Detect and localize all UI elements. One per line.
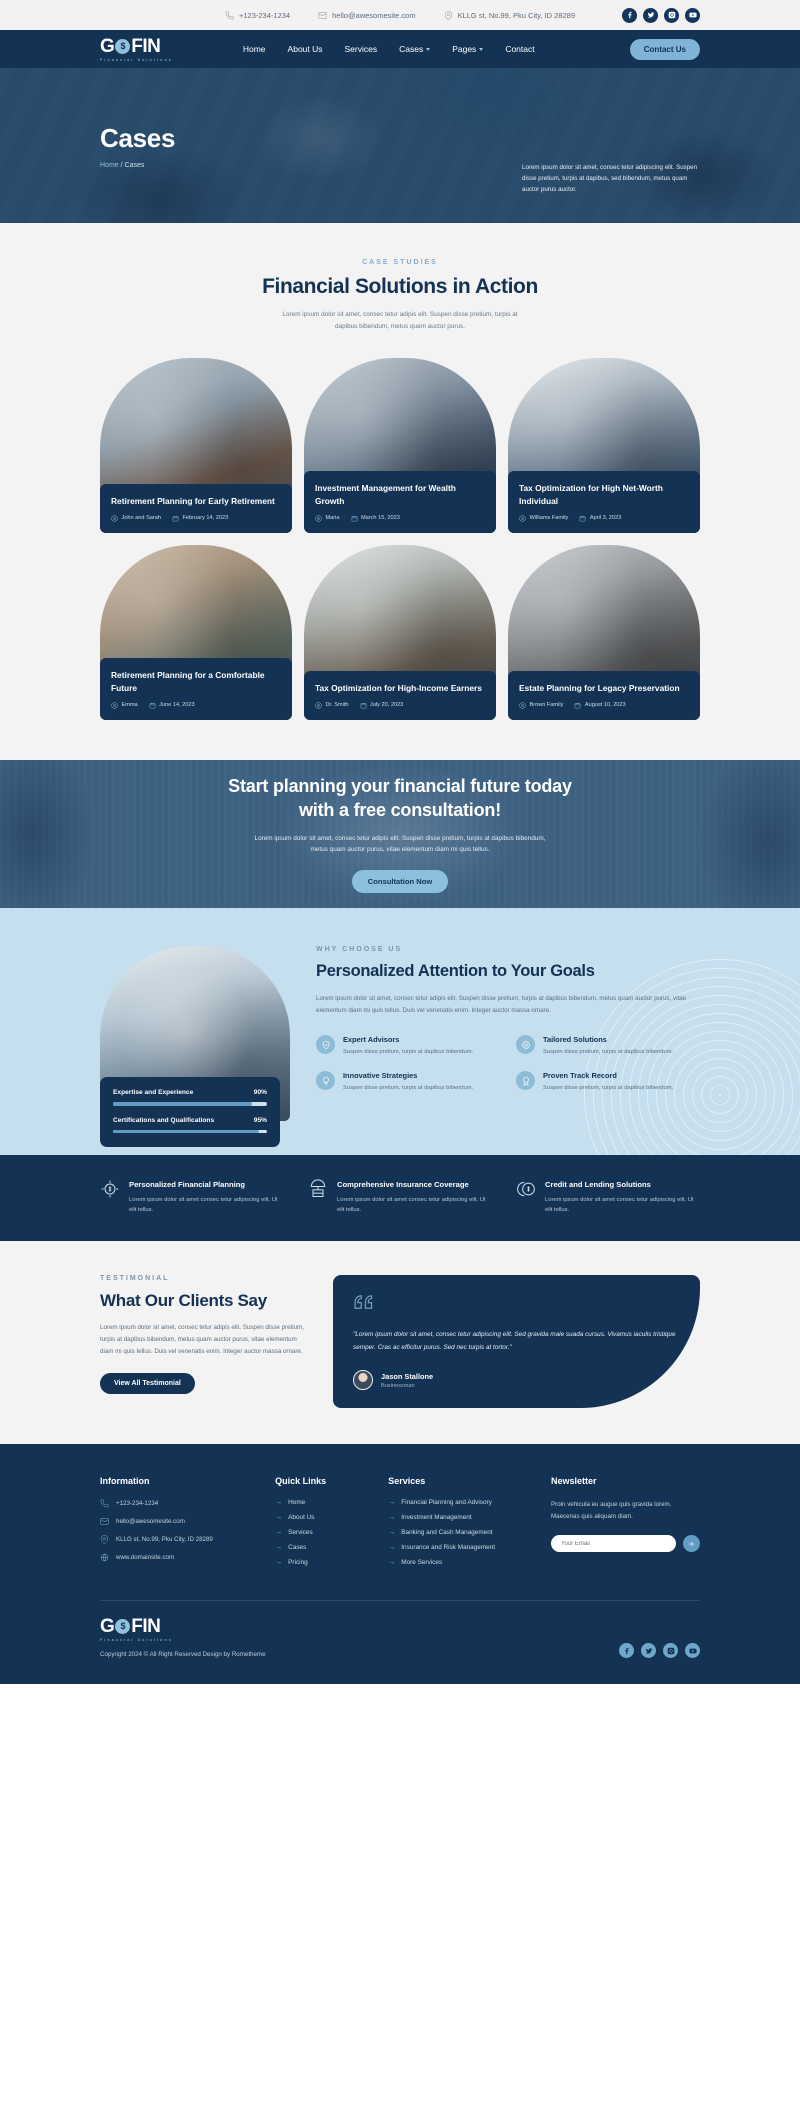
- feature-title: Expert Advisors: [343, 1035, 473, 1044]
- case-card[interactable]: Retirement Planning for a Comfortable Fu…: [100, 545, 292, 720]
- strip-desc: Lorem ipsum dolor sit amet consec tetur …: [545, 1196, 700, 1216]
- quote-icon: [353, 1293, 678, 1316]
- contact-us-button[interactable]: Contact Us: [630, 39, 700, 60]
- section-title: What Our Clients Say: [100, 1291, 305, 1311]
- case-title: Investment Management for Wealth Growth: [315, 482, 485, 506]
- stat-value: 95%: [254, 1117, 267, 1124]
- logo-dollar-icon: $: [115, 39, 130, 54]
- stat-value: 90%: [254, 1089, 267, 1096]
- testimonial-author-name: Jason Stallone: [381, 1372, 433, 1381]
- consultation-now-button[interactable]: Consultation Now: [352, 870, 449, 893]
- case-date: June 14, 2023: [149, 702, 195, 709]
- case-title: Tax Optimization for High Net-Worth Indi…: [519, 482, 689, 506]
- arrow-right-icon: →: [388, 1544, 395, 1551]
- calendar-icon: [579, 515, 586, 522]
- case-date: March 15, 2023: [351, 515, 400, 522]
- testimonial-card: "Lorem ipsum dolor sit amet, consec tetu…: [333, 1275, 700, 1408]
- youtube-icon[interactable]: [685, 1643, 700, 1658]
- footer-phone-text: +123-234-1234: [116, 1500, 158, 1507]
- footer-service-label: Banking and Cash Management: [401, 1529, 492, 1536]
- mail-icon: [100, 1517, 109, 1526]
- case-card[interactable]: Investment Management for Wealth Growth …: [304, 358, 496, 533]
- case-body: Retirement Planning for a Comfortable Fu…: [100, 658, 292, 719]
- footer-link-home[interactable]: →Home: [275, 1499, 368, 1506]
- case-meta: Williams Family April 3, 2023: [519, 515, 689, 522]
- footer-link-about-us[interactable]: →About Us: [275, 1514, 368, 1521]
- calendar-icon: [360, 702, 367, 709]
- section-eyebrow: TESTIMONIAL: [100, 1275, 305, 1282]
- footer-heading: Information: [100, 1476, 255, 1486]
- case-date: July 20, 2023: [360, 702, 404, 709]
- footer-email-text: hello@awesomesite.com: [116, 1518, 185, 1525]
- case-date: February 14, 2023: [172, 515, 228, 522]
- feature-item: Innovative Strategies Suspen disse preti…: [316, 1071, 500, 1093]
- hero-banner: Cases Home / Cases Lorem ipsum dolor sit…: [0, 68, 800, 223]
- section-eyebrow: WHY CHOOSE US: [316, 946, 700, 953]
- facebook-icon[interactable]: [622, 8, 637, 23]
- page-title: Cases: [100, 123, 175, 154]
- chevron-down-icon: [426, 48, 430, 51]
- case-date: April 3, 2023: [579, 515, 621, 522]
- section-title: Financial Solutions in Action: [100, 275, 700, 299]
- feature-title: Innovative Strategies: [343, 1071, 473, 1080]
- logo-letter-g: G: [100, 1617, 114, 1636]
- calendar-icon: [574, 702, 581, 709]
- case-body: Estate Planning for Legacy Preservation …: [508, 671, 700, 720]
- chevron-down-icon: [479, 48, 483, 51]
- feature-desc: Suspen disse pretium, turpis at dapibus …: [543, 1083, 673, 1093]
- cta-banner: Start planning your financial future tod…: [0, 760, 800, 908]
- strip-title: Personalized Financial Planning: [129, 1179, 284, 1190]
- umbrella-shield-icon: [308, 1179, 328, 1216]
- breadcrumb: Home / Cases: [100, 162, 175, 169]
- case-date-text: March 15, 2023: [361, 515, 400, 521]
- logo-dollar-icon: $: [115, 1619, 130, 1634]
- footer-link-label: Home: [288, 1499, 305, 1506]
- award-icon: [516, 1071, 535, 1090]
- footer-service-label: Investment Management: [401, 1514, 471, 1521]
- stats-card: Expertise and Experience 90% Certificati…: [100, 1077, 280, 1146]
- footer-link-label: Cases: [288, 1544, 306, 1551]
- page-root: +123-234-1234 hello@awesomesite.com KLLG…: [0, 0, 800, 1684]
- arrow-right-icon: →: [388, 1514, 395, 1521]
- case-client: John and Sarah: [111, 515, 161, 522]
- case-date: August 10, 2023: [574, 702, 625, 709]
- testimonial-intro: TESTIMONIAL What Our Clients Say Lorem i…: [100, 1275, 305, 1408]
- lightbulb-icon: [316, 1071, 335, 1090]
- stat-item: Certifications and Qualifications 95%: [113, 1117, 267, 1133]
- site-logo[interactable]: G $ FIN Financial Solutions: [100, 37, 173, 62]
- instagram-icon[interactable]: [663, 1643, 678, 1658]
- case-studies-section: CASE STUDIES Financial Solutions in Acti…: [0, 223, 800, 760]
- nav-label: Pages: [452, 44, 476, 54]
- case-date-text: April 3, 2023: [590, 515, 621, 521]
- newsletter-submit-button[interactable]: [683, 1535, 700, 1552]
- cta-title-line1: Start planning your financial future tod…: [228, 776, 572, 796]
- case-client: Brown Family: [519, 702, 563, 709]
- topbar-address-text: KLLG st, No.99, Pku City, ID 28289: [458, 11, 575, 20]
- feature-item: Proven Track Record Suspen disse pretium…: [516, 1071, 700, 1093]
- case-client-text: Emma: [122, 702, 138, 708]
- view-all-testimonial-button[interactable]: View All Testimonial: [100, 1373, 195, 1394]
- logo-letters-fin: FIN: [131, 1617, 160, 1636]
- nav-item-about-us[interactable]: About Us: [288, 44, 323, 54]
- footer-brand: G $ FIN Financial Solutions Copyright 20…: [100, 1617, 266, 1658]
- feature-desc: Suspen disse pretium, turpis at dapibus …: [343, 1047, 473, 1057]
- section-text: Lorem ipsum dolor sit amet, consec tetur…: [100, 1322, 305, 1357]
- calendar-icon: [172, 515, 179, 522]
- hero-content: Cases Home / Cases: [100, 123, 175, 169]
- section-eyebrow: CASE STUDIES: [100, 259, 700, 266]
- case-body: Investment Management for Wealth Growth …: [304, 471, 496, 532]
- footer-link-label: About Us: [288, 1514, 314, 1521]
- footer-service-investment-management[interactable]: →Investment Management: [388, 1514, 531, 1521]
- feature-item: Expert Advisors Suspen disse pretium, tu…: [316, 1035, 500, 1057]
- breadcrumb-current: Cases: [125, 162, 145, 169]
- case-client-text: John and Sarah: [122, 515, 162, 521]
- target-icon: [516, 1035, 535, 1054]
- arrow-right-icon: [687, 1540, 695, 1548]
- footer-service-insurance-risk[interactable]: →Insurance and Risk Management: [388, 1544, 531, 1551]
- pin-icon: [444, 11, 453, 20]
- strip-title: Credit and Lending Solutions: [545, 1179, 700, 1190]
- why-choose-us-section: Expertise and Experience 90% Certificati…: [0, 908, 800, 1155]
- breadcrumb-home[interactable]: Home: [100, 162, 119, 169]
- footer-logo[interactable]: G $ FIN Financial Solutions: [100, 1617, 266, 1642]
- nav-label: About Us: [288, 44, 323, 54]
- testimonial-quote: "Lorem ipsum dolor sit amet, consec tetu…: [353, 1329, 678, 1354]
- case-client-text: Brown Family: [530, 702, 564, 708]
- nav-item-cases[interactable]: Cases: [399, 44, 430, 54]
- newsletter-form: [551, 1535, 700, 1552]
- case-meta: Dr. Smith July 20, 2023: [315, 702, 485, 709]
- newsletter-text: Proin vehicula eu augue quis gravida lor…: [551, 1499, 700, 1522]
- logo-letter-g: G: [100, 37, 114, 56]
- services-strip: Personalized Financial Planning Lorem ip…: [0, 1155, 800, 1242]
- footer-link-cases[interactable]: →Cases: [275, 1544, 368, 1551]
- case-meta: Maria March 15, 2023: [315, 515, 485, 522]
- progress-bar: [113, 1102, 267, 1105]
- footer-quick-links: Quick Links →Home →About Us →Services →C…: [275, 1476, 368, 1574]
- cta-text: Lorem ipsum dolor sit amet, consec tetur…: [245, 833, 555, 857]
- case-date-text: February 14, 2023: [183, 515, 229, 521]
- feature-desc: Suspen disse pretium, turpis at dapibus …: [543, 1047, 673, 1057]
- footer-address-text: KLLG st, No.99, Pku City, ID 28289: [116, 1536, 213, 1543]
- section-subtitle: Lorem ipsum dolor sit amet, consec tetur…: [273, 309, 528, 333]
- topbar-address[interactable]: KLLG st, No.99, Pku City, ID 28289: [444, 11, 575, 20]
- cta-content: Start planning your financial future tod…: [228, 774, 572, 893]
- user-icon: [111, 515, 118, 522]
- case-body: Retirement Planning for Early Retirement…: [100, 484, 292, 533]
- topbar-email[interactable]: hello@awesomesite.com: [318, 11, 415, 20]
- progress-bar: [113, 1130, 267, 1133]
- footer-services: Services →Financial Planning and Advisor…: [388, 1476, 531, 1574]
- nav-item-pages[interactable]: Pages: [452, 44, 483, 54]
- case-card[interactable]: Retirement Planning for Early Retirement…: [100, 358, 292, 533]
- topbar-phone[interactable]: +123-234-1234: [225, 11, 290, 20]
- stat-label: Certifications and Qualifications: [113, 1117, 214, 1124]
- case-body: Tax Optimization for High-Income Earners…: [304, 671, 496, 720]
- strip-title: Comprehensive Insurance Coverage: [337, 1179, 492, 1190]
- case-client-text: Williams Family: [530, 515, 569, 521]
- strip-desc: Lorem ipsum dolor sit amet consec tetur …: [337, 1196, 492, 1216]
- footer-link-pricing[interactable]: →Pricing: [275, 1559, 368, 1566]
- nav-label: Cases: [399, 44, 423, 54]
- feature-grid: Expert Advisors Suspen disse pretium, tu…: [316, 1035, 700, 1093]
- footer-email[interactable]: hello@awesomesite.com: [100, 1517, 255, 1526]
- calendar-icon: [149, 702, 156, 709]
- case-meta: Brown Family August 10, 2023: [519, 702, 689, 709]
- avatar: [353, 1370, 373, 1390]
- case-date-text: August 10, 2023: [585, 702, 626, 708]
- feature-title: Proven Track Record: [543, 1071, 673, 1080]
- arrow-right-icon: →: [275, 1514, 282, 1521]
- nav-item-contact[interactable]: Contact: [505, 44, 534, 54]
- logo-wordmark: G $ FIN: [100, 37, 173, 56]
- twitter-icon[interactable]: [641, 1643, 656, 1658]
- arrow-right-icon: →: [275, 1529, 282, 1536]
- case-date-text: July 20, 2023: [370, 702, 403, 708]
- arrow-right-icon: →: [275, 1544, 282, 1551]
- footer-heading: Newsletter: [551, 1476, 700, 1486]
- why-content: WHY CHOOSE US Personalized Attention to …: [316, 946, 700, 1121]
- nav-menu: Home About Us Services Cases Pages Conta…: [243, 44, 535, 54]
- footer-bottom: G $ FIN Financial Solutions Copyright 20…: [100, 1617, 700, 1684]
- footer-website[interactable]: www.domainsite.com: [100, 1553, 255, 1562]
- footer-service-banking-cash[interactable]: →Banking and Cash Management: [388, 1529, 531, 1536]
- arrow-right-icon: →: [388, 1559, 395, 1566]
- logo-letters-fin: FIN: [131, 37, 160, 56]
- strip-item: Comprehensive Insurance Coverage Lorem i…: [308, 1179, 492, 1216]
- credit-coins-icon: [516, 1179, 536, 1216]
- case-title: Retirement Planning for Early Retirement: [111, 495, 281, 507]
- youtube-icon[interactable]: [685, 8, 700, 23]
- cta-title-line2: with a free consultation!: [299, 800, 501, 820]
- user-icon: [519, 515, 526, 522]
- instagram-icon[interactable]: [664, 8, 679, 23]
- footer-link-label: Pricing: [288, 1559, 308, 1566]
- copyright-text: Copyright 2024 © All Right Reserved Desi…: [100, 1651, 266, 1658]
- footer-service-label: More Services: [401, 1559, 442, 1566]
- top-bar: +123-234-1234 hello@awesomesite.com KLLG…: [0, 0, 800, 30]
- testimonial-section: TESTIMONIAL What Our Clients Say Lorem i…: [0, 1241, 800, 1444]
- cta-title: Start planning your financial future tod…: [228, 774, 572, 823]
- footer-newsletter: Newsletter Proin vehicula eu augue quis …: [551, 1476, 700, 1574]
- case-client: Williams Family: [519, 515, 568, 522]
- case-meta: Emma June 14, 2023: [111, 702, 281, 709]
- globe-icon: [100, 1553, 109, 1562]
- stat-label: Expertise and Experience: [113, 1089, 193, 1096]
- footer-heading: Services: [388, 1476, 531, 1486]
- badge-icon: [316, 1035, 335, 1054]
- case-client: Dr. Smith: [315, 702, 349, 709]
- case-client-text: Maria: [326, 515, 340, 521]
- why-visual: Expertise and Experience 90% Certificati…: [100, 946, 290, 1121]
- coin-target-icon: [100, 1179, 120, 1216]
- feature-desc: Suspen disse pretium, turpis at dapibus …: [343, 1083, 473, 1093]
- user-icon: [315, 702, 322, 709]
- main-navigation: G $ FIN Financial Solutions Home About U…: [0, 30, 800, 68]
- footer-service-financial-planning[interactable]: →Financial Planning and Advisory: [388, 1499, 531, 1506]
- mail-icon: [318, 11, 327, 20]
- stat-item: Expertise and Experience 90%: [113, 1089, 267, 1105]
- topbar-phone-text: +123-234-1234: [239, 11, 290, 20]
- strip-item: Credit and Lending Solutions Lorem ipsum…: [516, 1179, 700, 1216]
- twitter-icon[interactable]: [643, 8, 658, 23]
- footer-link-label: Services: [288, 1529, 313, 1536]
- case-title: Tax Optimization for High-Income Earners: [315, 682, 485, 694]
- case-card[interactable]: Estate Planning for Legacy Preservation …: [508, 545, 700, 720]
- case-client-text: Dr. Smith: [326, 702, 349, 708]
- nav-label: Contact: [505, 44, 534, 54]
- footer-service-label: Financial Planning and Advisory: [401, 1499, 492, 1506]
- phone-icon: [100, 1499, 109, 1508]
- topbar-email-text: hello@awesomesite.com: [332, 11, 415, 20]
- case-body: Tax Optimization for High Net-Worth Indi…: [508, 471, 700, 532]
- arrow-right-icon: →: [388, 1529, 395, 1536]
- phone-icon: [225, 11, 234, 20]
- strip-desc: Lorem ipsum dolor sit amet consec tetur …: [129, 1196, 284, 1216]
- arrow-right-icon: →: [275, 1499, 282, 1506]
- nav-label: Home: [243, 44, 266, 54]
- section-title: Personalized Attention to Your Goals: [316, 961, 700, 983]
- testimonial-author-block: Jason Stallone Businessman: [353, 1370, 678, 1390]
- footer-social: [619, 1643, 700, 1658]
- newsletter-email-input[interactable]: [551, 1535, 676, 1552]
- user-icon: [111, 702, 118, 709]
- nav-item-services[interactable]: Services: [345, 44, 378, 54]
- footer-website-text: www.domainsite.com: [116, 1554, 174, 1561]
- feature-title: Tailored Solutions: [543, 1035, 673, 1044]
- footer-service-more[interactable]: →More Services: [388, 1559, 531, 1566]
- testimonial-author-role: Businessman: [381, 1383, 433, 1389]
- user-icon: [315, 515, 322, 522]
- section-text: Lorem ipsum dolor sit amet, consec tetur…: [316, 993, 700, 1017]
- strip-item: Personalized Financial Planning Lorem ip…: [100, 1179, 284, 1216]
- calendar-icon: [351, 515, 358, 522]
- footer-service-label: Insurance and Risk Management: [401, 1544, 495, 1551]
- hero-description: Lorem ipsum dolor sit amet, consec tetur…: [522, 163, 700, 196]
- arrow-right-icon: →: [275, 1559, 282, 1566]
- user-icon: [519, 702, 526, 709]
- case-title: Retirement Planning for a Comfortable Fu…: [111, 669, 281, 693]
- footer-information: Information +123-234-1234 hello@awesomes…: [100, 1476, 255, 1574]
- case-card[interactable]: Tax Optimization for High Net-Worth Indi…: [508, 358, 700, 533]
- feature-item: Tailored Solutions Suspen disse pretium,…: [516, 1035, 700, 1057]
- footer-address[interactable]: KLLG st, No.99, Pku City, ID 28289: [100, 1535, 255, 1544]
- footer-columns: Information +123-234-1234 hello@awesomes…: [100, 1476, 700, 1574]
- case-client: Emma: [111, 702, 138, 709]
- footer-divider: [100, 1600, 700, 1601]
- logo-tagline: Financial Solutions: [100, 1638, 266, 1642]
- pin-icon: [100, 1535, 109, 1544]
- footer-phone[interactable]: +123-234-1234: [100, 1499, 255, 1508]
- nav-item-home[interactable]: Home: [243, 44, 266, 54]
- case-card[interactable]: Tax Optimization for High-Income Earners…: [304, 545, 496, 720]
- logo-tagline: Financial Solutions: [100, 58, 173, 62]
- case-meta: John and Sarah February 14, 2023: [111, 515, 281, 522]
- case-title: Estate Planning for Legacy Preservation: [519, 682, 689, 694]
- footer-link-services[interactable]: →Services: [275, 1529, 368, 1536]
- case-grid: Retirement Planning for Early Retirement…: [100, 358, 700, 720]
- case-client: Maria: [315, 515, 340, 522]
- topbar-social: [622, 8, 700, 23]
- logo-wordmark: G $ FIN: [100, 1617, 266, 1636]
- footer-heading: Quick Links: [275, 1476, 368, 1486]
- arrow-right-icon: →: [388, 1499, 395, 1506]
- site-footer: Information +123-234-1234 hello@awesomes…: [0, 1444, 800, 1684]
- nav-label: Services: [345, 44, 378, 54]
- case-date-text: June 14, 2023: [159, 702, 194, 708]
- facebook-icon[interactable]: [619, 1643, 634, 1658]
